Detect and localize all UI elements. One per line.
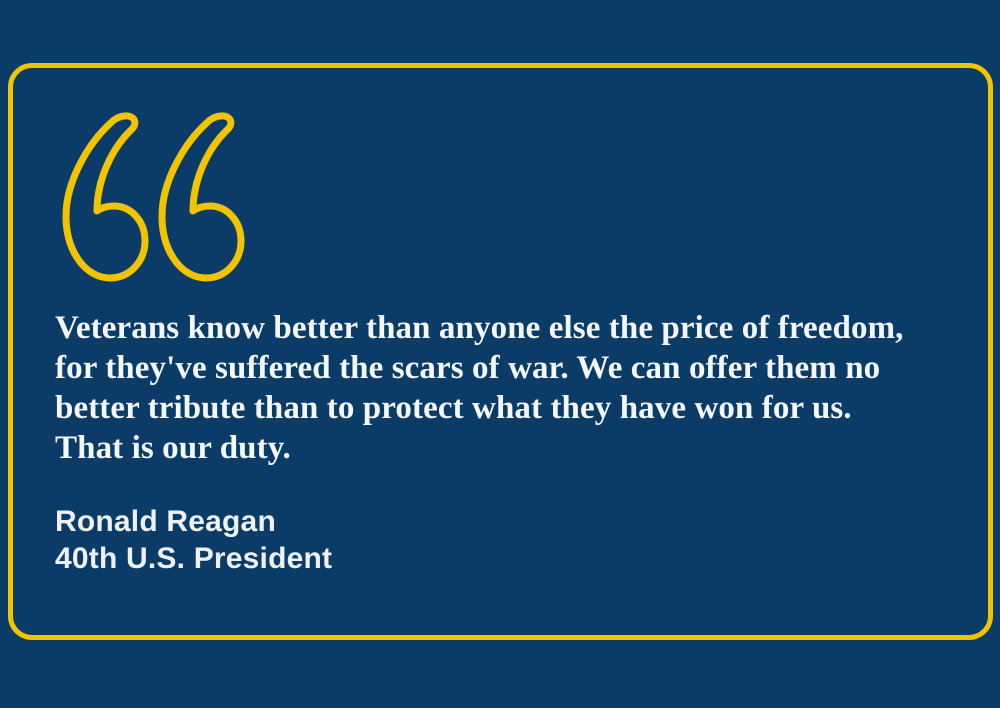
quote-body-text: Veterans know better than anyone else th… [55,308,970,468]
attribution-author-role: 40th U.S. President [55,540,755,577]
attribution-author-name: Ronald Reagan [55,503,755,540]
quote-attribution: Ronald Reagan 40th U.S. President [55,503,755,577]
quote-card-canvas: Veterans know better than anyone else th… [0,0,1000,708]
